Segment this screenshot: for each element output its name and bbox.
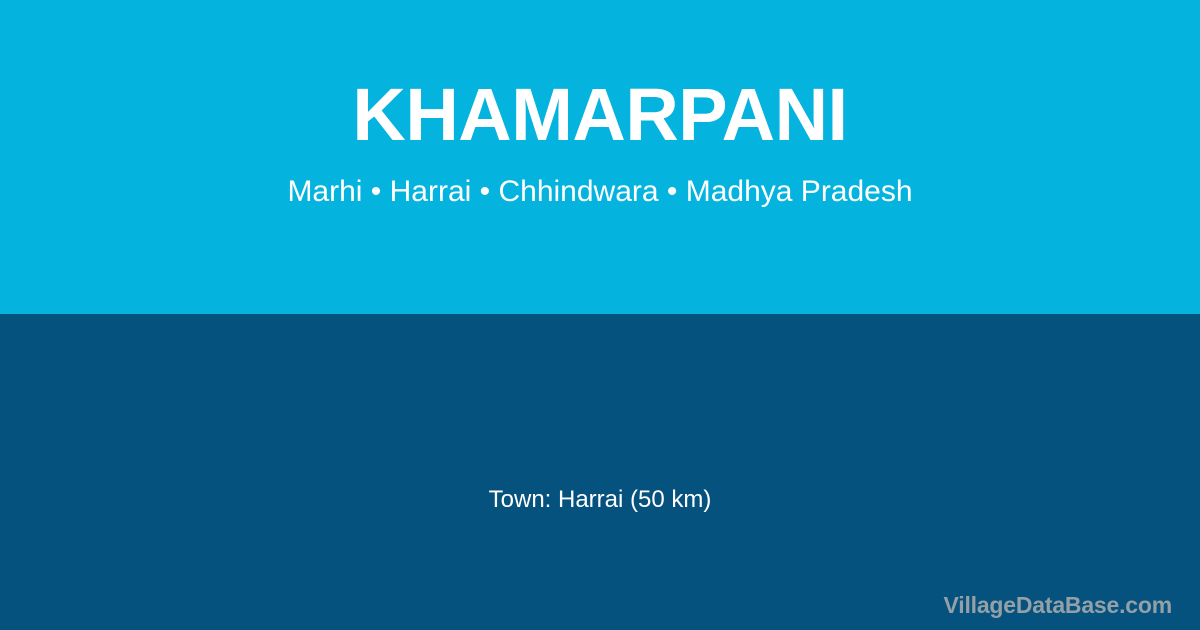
- details-section: Town: Harrai (50 km): [0, 314, 1200, 630]
- breadcrumb: Marhi • Harrai • Chhindwara • Madhya Pra…: [287, 174, 912, 210]
- page-title: KHAMARPANI: [352, 78, 847, 152]
- hero-section: KHAMARPANI Marhi • Harrai • Chhindwara •…: [0, 0, 1200, 314]
- village-info-banner: KHAMARPANI Marhi • Harrai • Chhindwara •…: [0, 0, 1200, 630]
- nearest-town-label: Town: Harrai (50 km): [0, 486, 1200, 515]
- site-watermark: VillageDataBase.com: [944, 592, 1172, 620]
